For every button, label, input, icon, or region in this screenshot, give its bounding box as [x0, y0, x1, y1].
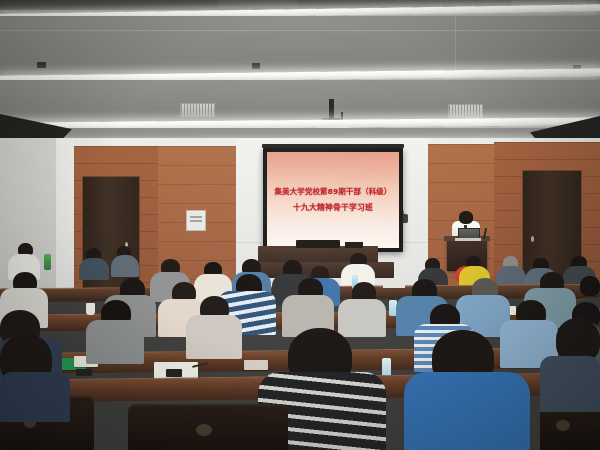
right-door-knob-icon[interactable]: [531, 236, 534, 242]
desk-item-phone: [166, 369, 182, 377]
presenter-head: [459, 211, 473, 224]
projection-screen: 集美大学党校第89期干部（科级） 十九大精神骨干学习班: [267, 152, 399, 248]
ceiling-vent-1: [180, 103, 215, 117]
desk-item-notebook: [383, 281, 405, 288]
ceiling-seam-2: [455, 16, 456, 72]
ceiling-panel-1: [0, 16, 600, 72]
ceiling-sensor-mid: [252, 63, 260, 69]
slide-title-line-2: 十九大精神骨干学习班: [293, 204, 373, 212]
desk-item-bottle: [44, 254, 51, 270]
chair-emblem-icon: [556, 420, 570, 431]
person-body: [338, 299, 386, 337]
desk-item-cup: [86, 303, 95, 315]
ceiling-panel-2: [0, 80, 600, 120]
wall-control-plate[interactable]: [186, 210, 206, 231]
person-body: [186, 315, 242, 359]
ceiling-vent-2: [448, 104, 483, 118]
slide-title-line-1: 集美大学党校第89期干部（科级）: [275, 188, 392, 195]
desk-item-bottle: [382, 358, 391, 376]
lecture-hall-photo: 集美大学党校第89期干部（科级） 十九大精神骨干学习班: [0, 0, 600, 450]
front-table-equipment: [296, 240, 340, 248]
projection-screen-frame: 集美大学党校第89期干部（科级） 十九大精神骨干学习班: [263, 148, 403, 252]
person-body: [111, 255, 139, 277]
person-body: [0, 372, 70, 422]
person-head: [580, 276, 600, 296]
ceiling-recess-left: [218, 0, 298, 8]
person-body: [86, 320, 144, 364]
ceiling-sensor-left: [37, 62, 46, 68]
chair-emblem-icon: [196, 424, 212, 436]
wall-plaster-left: [56, 138, 74, 298]
person-body: [540, 356, 600, 412]
ceiling: [0, 0, 600, 150]
front-table-equipment-2: [345, 242, 363, 248]
podium-laptop-base: [455, 238, 481, 241]
desk-item-notebook: [244, 360, 268, 370]
person-body: [404, 372, 530, 450]
person-body: [79, 258, 109, 280]
desk-item-phone: [76, 369, 92, 376]
ceiling-seam-1: [0, 30, 600, 31]
projected-slide: 集美大学党校第89期干部（科级） 十九大精神骨干学习班: [267, 152, 399, 248]
